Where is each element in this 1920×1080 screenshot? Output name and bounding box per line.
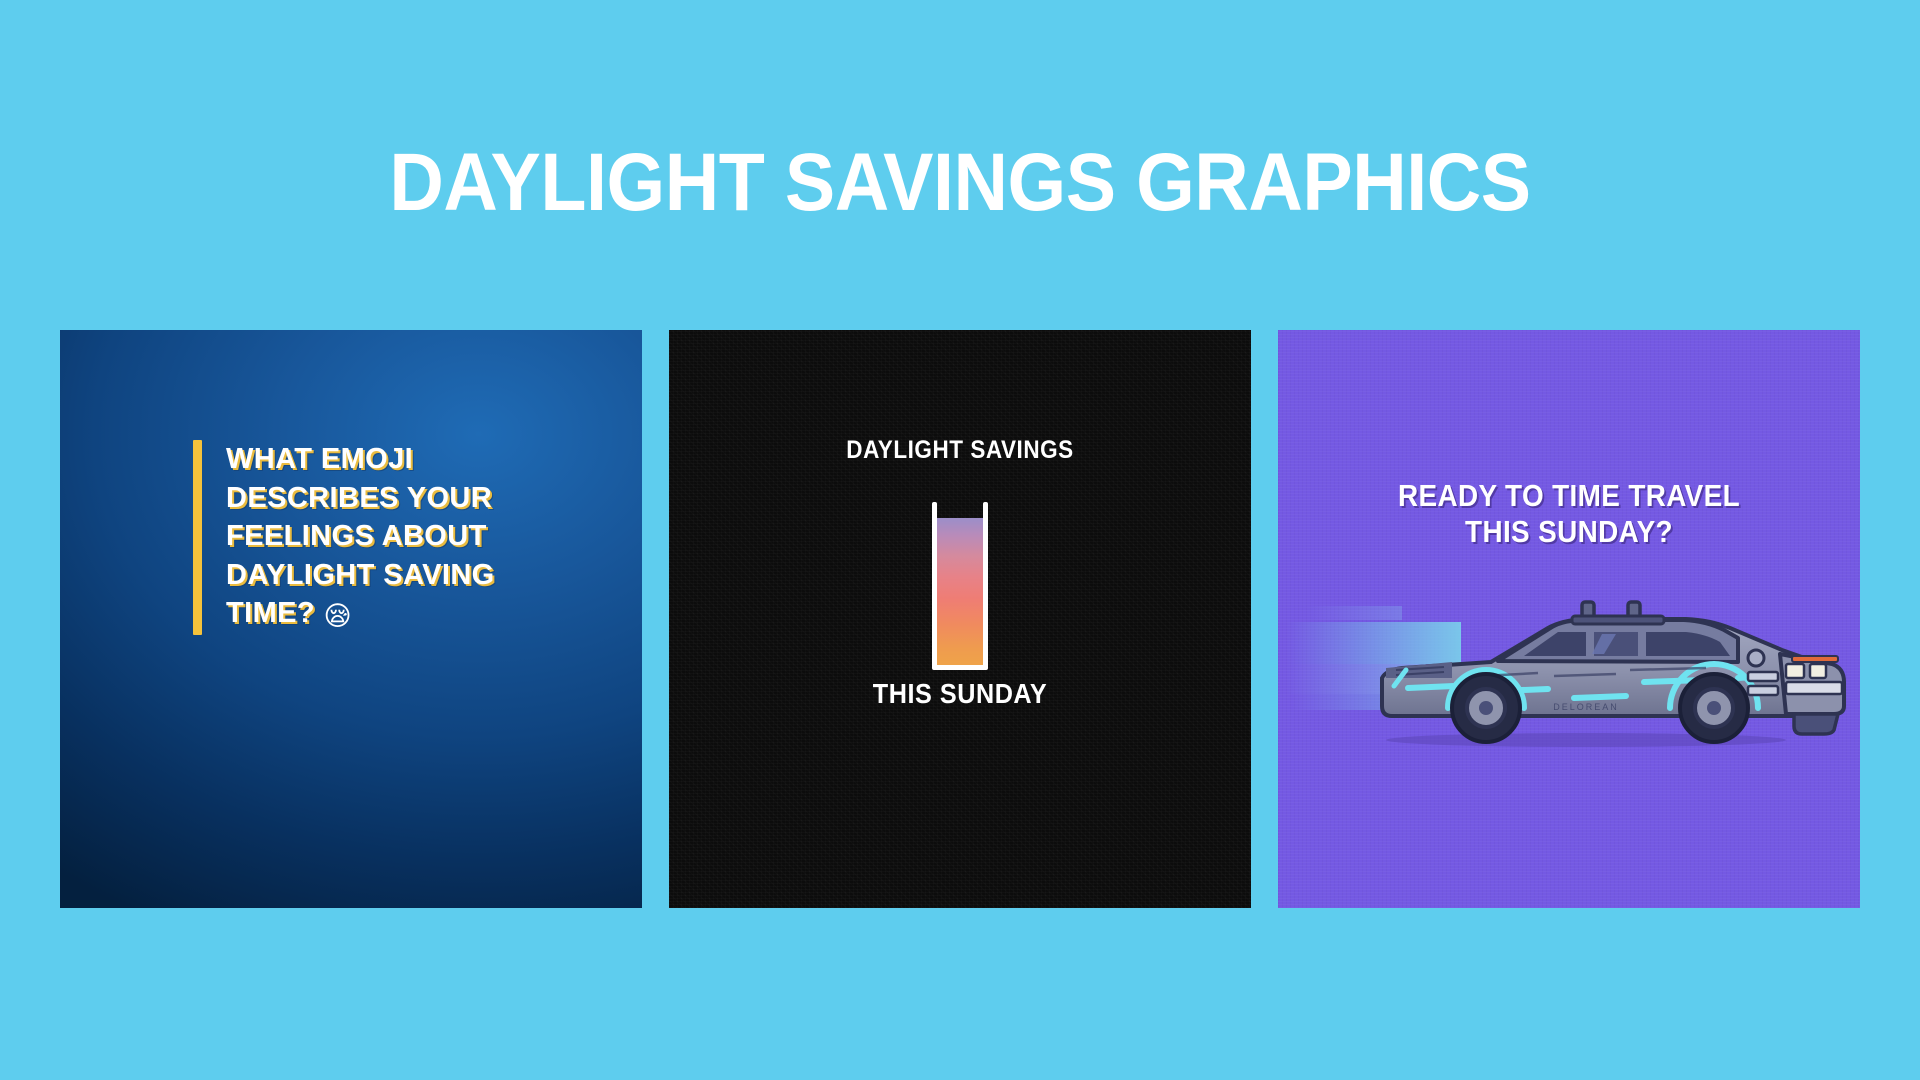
roof-rack: [1572, 616, 1664, 624]
tube-wall-left: [932, 502, 937, 670]
rear-wheel: [1452, 674, 1520, 742]
emoji-question-card[interactable]: WHAT EMOJI DESCRIBES YOUR FEELINGS ABOUT…: [60, 330, 642, 908]
front-indicator-strip: [1792, 656, 1838, 662]
time-travel-heading-line-2: THIS SUNDAY?: [1307, 514, 1831, 550]
emoji-question-label: WHAT EMOJI DESCRIBES YOUR FEELINGS ABOUT…: [226, 443, 495, 629]
front-bumper: [1794, 714, 1838, 734]
this-sunday-label: THIS SUNDAY: [698, 678, 1222, 710]
emoji-question-text: WHAT EMOJI DESCRIBES YOUR FEELINGS ABOUT…: [226, 440, 526, 635]
daylight-savings-label: DAYLIGHT SAVINGS: [698, 436, 1222, 465]
front-grille: [1786, 682, 1842, 694]
hourglass-tube-card[interactable]: DAYLIGHT SAVINGS THIS SUNDAY: [669, 330, 1251, 908]
time-travel-card[interactable]: READY TO TIME TRAVEL THIS SUNDAY?: [1278, 330, 1860, 908]
fuel-cap: [1748, 650, 1764, 666]
headlight-outer: [1810, 664, 1826, 678]
quote-block: WHAT EMOJI DESCRIBES YOUR FEELINGS ABOUT…: [193, 440, 526, 635]
side-skirt-detail: DELOREAN: [1553, 702, 1619, 712]
accent-bar: [193, 440, 202, 635]
gradient-tube-graphic: [932, 502, 988, 670]
front-wheel: [1680, 674, 1748, 742]
graphics-card-grid: WHAT EMOJI DESCRIBES YOUR FEELINGS ABOUT…: [60, 330, 1860, 908]
sleepy-face-emoji: 😪: [323, 601, 352, 632]
tube-gradient-fill: [937, 518, 983, 665]
tube-wall-right: [983, 502, 988, 670]
tube-base: [932, 665, 988, 670]
delorean-car-illustration: DELOREAN: [1286, 558, 1852, 758]
time-travel-heading-line-1: READY TO TIME TRAVEL: [1307, 478, 1831, 514]
headlight-inner: [1786, 664, 1804, 678]
page-title: DAYLIGHT SAVINGS GRAPHICS: [77, 142, 1843, 224]
time-travel-heading: READY TO TIME TRAVEL THIS SUNDAY?: [1307, 478, 1831, 550]
